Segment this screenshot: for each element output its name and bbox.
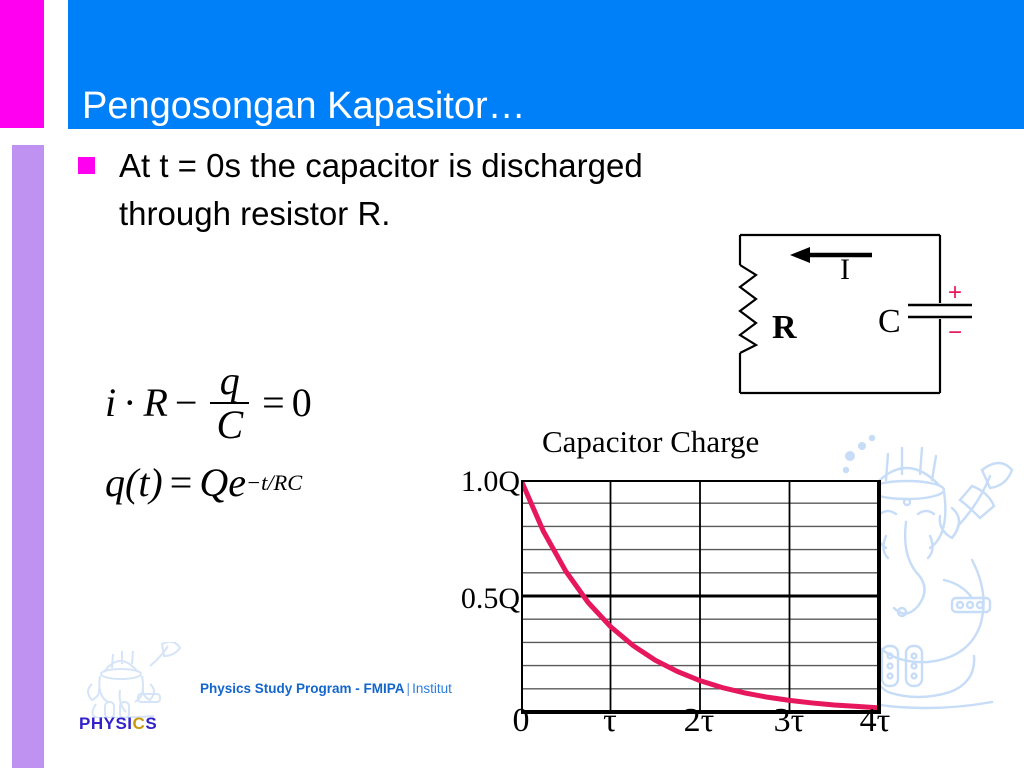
logo-text-left: PHYSI: [79, 714, 133, 733]
page-title: Pengosongan Kapasitor…: [82, 83, 782, 129]
bullet-marker-icon: [78, 157, 95, 174]
equation-group: i · R − q C = 0 q(t) = Q e −t/RC: [105, 360, 312, 506]
circuit-label-C: C: [878, 303, 901, 341]
current-arrow-icon: [790, 247, 872, 263]
circuit-polarity-minus: −: [948, 319, 962, 347]
equation-term-i: i: [105, 379, 116, 426]
footer-institution: Institut: [412, 681, 452, 696]
chart-xtick-3: 3τ: [774, 702, 805, 740]
chart-xaxis-labels: 0 τ 2τ 3τ 4τ: [507, 702, 867, 748]
equation-minus: −: [175, 379, 198, 426]
physics-logo-icon: [78, 642, 186, 723]
physics-logo-text: PHYSICS: [79, 714, 157, 734]
equation-fraction-numerator: q: [214, 360, 246, 402]
circuit-diagram: I R C + −: [722, 225, 972, 410]
equation-fraction-denominator: C: [210, 402, 249, 446]
equation-equals: =: [262, 379, 285, 426]
equation-Q: Q: [199, 459, 228, 506]
bullet-item: At t = 0s the capacitor is discharged th…: [78, 142, 728, 238]
chart-xtick-1: τ: [603, 702, 617, 740]
footer-credit: Physics Study Program - FMIPA|Institut: [200, 681, 452, 696]
equation-equals-2: =: [170, 459, 193, 506]
logo-text-c: C: [133, 714, 146, 733]
footer-separator: |: [407, 681, 411, 696]
bullet-item-label: At t = 0s the capacitor is discharged th…: [119, 142, 728, 238]
chart-ytick-2: 0.5Q: [424, 582, 520, 616]
chart-plot-area: [521, 480, 881, 720]
equation-charge-decay: q(t) = Q e −t/RC: [105, 459, 312, 506]
equation-dot: ·: [123, 379, 136, 426]
chart-ytick-1: 1.0Q: [424, 465, 520, 499]
equation-e: e: [228, 459, 246, 506]
circuit-polarity-plus: +: [948, 279, 962, 307]
equation-exponent: −t/RC: [246, 470, 302, 496]
chart-xtick-4: 4τ: [860, 702, 891, 740]
resistor-symbol: [740, 265, 756, 353]
logo-text-right: S: [145, 714, 157, 733]
equation-fraction-q-over-C: q C: [210, 360, 249, 445]
chart-xtick-2: 2τ: [684, 702, 715, 740]
equation-zero: 0: [292, 379, 312, 426]
slide-canvas: Pengosongan Kapasitor… At t = 0s the cap…: [0, 0, 1024, 768]
chart-xtick-0: 0: [513, 702, 530, 740]
chart-title: Capacitor Charge: [542, 424, 759, 460]
circuit-label-I: I: [840, 253, 850, 287]
circuit-label-R: R: [772, 309, 797, 347]
accent-bar-purple: [12, 145, 44, 768]
equation-kirchhoff: i · R − q C = 0: [105, 360, 312, 445]
accent-bar-magenta: [0, 0, 44, 128]
equation-q-of-t: q(t): [105, 459, 163, 506]
capacitor-symbol: [908, 305, 972, 317]
footer-program-name: Physics Study Program - FMIPA: [200, 681, 405, 696]
equation-term-R: R: [143, 379, 167, 426]
